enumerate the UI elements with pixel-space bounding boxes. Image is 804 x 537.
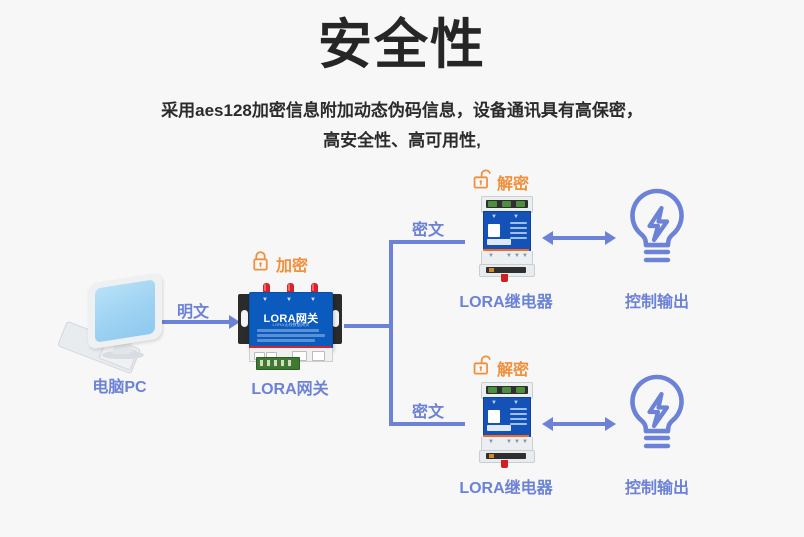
link-label-ciphertext-upper: 密文 <box>398 216 458 240</box>
diagram-canvas: 安全性 采用aes128加密信息附加动态伪码信息，设备通讯具有高保密， 高安全性… <box>0 0 804 537</box>
link-branch-lower <box>389 422 465 426</box>
link-label-ciphertext-lower: 密文 <box>398 398 458 422</box>
relay-mark-3: ▼ <box>522 253 528 259</box>
relay-front-panel: ▼ ▼ <box>483 211 531 253</box>
relay-panel-badge <box>487 425 511 431</box>
badge-label-decrypt-bottom: 解密 <box>497 356 529 380</box>
subtitle-line-1: 采用aes128加密信息附加动态伪码信息，设备通讯具有高保密， <box>102 96 702 126</box>
gateway-front-panel: ▼ ▼ ▼ LORA网关 LORA无线数据网关 <box>249 292 333 350</box>
relay-mark-wifi: ▼ <box>488 253 494 259</box>
relay-front-panel: ▼ ▼ <box>483 397 531 439</box>
link-relay-bottom-arrow-right <box>605 417 616 431</box>
relay-mark-3: ▼ <box>522 439 528 445</box>
node-label-output-top: 控制输出 <box>597 288 717 312</box>
node-label-pc: 电脑PC <box>62 373 177 397</box>
relay-lower-housing: ▼ ▼ ▼ ▼ <box>481 437 533 451</box>
relay-top-terminal <box>486 200 528 208</box>
link-branch-upper <box>389 240 465 244</box>
badge-label-encrypt: 加密 <box>276 252 308 276</box>
antenna-mark-1: ▼ <box>262 297 268 303</box>
link-relay-top-arrow-left <box>542 231 553 245</box>
page-title: 安全性 <box>0 16 804 75</box>
gateway-panel-subtitle: LORA无线数据网关 <box>250 322 332 328</box>
lora-gateway-device: ▼ ▼ ▼ LORA网关 LORA无线数据网关 <box>238 283 342 361</box>
node-label-output-bottom: 控制输出 <box>597 474 717 498</box>
open-padlock-icon-top <box>472 168 493 190</box>
monitor-bezel <box>88 272 162 350</box>
relay-red-tab <box>501 460 508 468</box>
link-branch-bus <box>389 240 393 426</box>
relay-antenna-mark-1: ▼ <box>491 214 497 220</box>
link-relay-bottom-arrow-left <box>542 417 553 431</box>
gateway-spec-lines <box>257 329 327 344</box>
subtitle-line-2: 高安全性、高可用性, <box>102 126 702 156</box>
desktop-computer-icon <box>62 278 177 373</box>
relay-led-strip <box>510 408 527 428</box>
relay-mark-2: ▼ <box>514 439 520 445</box>
relay-panel-window <box>488 224 500 237</box>
link-gateway-trunk <box>344 324 393 328</box>
link-relay-bottom-output-line <box>553 422 605 426</box>
badge-label-decrypt-top: 解密 <box>497 170 529 194</box>
closed-padlock-icon <box>250 250 271 272</box>
lora-relay-device-top: ▼ ▼ ▼ ▼ ▼ ▼ <box>477 196 535 278</box>
relay-mark-1: ▼ <box>506 253 512 259</box>
relay-red-tab <box>501 274 508 282</box>
relay-antenna-mark-2: ▼ <box>513 214 519 220</box>
relay-lower-housing: ▼ ▼ ▼ ▼ <box>481 251 533 265</box>
relay-mark-wifi: ▼ <box>488 439 494 445</box>
relay-mark-1: ▼ <box>506 439 512 445</box>
link-relay-top-arrow-right <box>605 231 616 245</box>
antenna-mark-2: ▼ <box>286 297 292 303</box>
open-padlock-icon-bottom <box>472 354 493 376</box>
usb-port <box>312 351 325 361</box>
antenna-mark-3: ▼ <box>310 297 316 303</box>
lightbulb-bolt-icon-top <box>620 186 694 270</box>
link-relay-top-output-line <box>553 236 605 240</box>
relay-panel-badge <box>487 239 511 245</box>
node-label-relay-bottom: LORA继电器 <box>446 474 566 498</box>
screw-terminal-block <box>256 357 300 370</box>
relay-led-strip <box>510 222 527 242</box>
page-subtitle: 采用aes128加密信息附加动态伪码信息，设备通讯具有高保密， 高安全性、高可用… <box>102 96 702 156</box>
relay-antenna-mark-1: ▼ <box>491 400 497 406</box>
node-label-relay-top: LORA继电器 <box>446 288 566 312</box>
relay-mark-2: ▼ <box>514 253 520 259</box>
relay-top-terminal <box>486 386 528 394</box>
relay-antenna-mark-2: ▼ <box>513 400 519 406</box>
node-label-gateway: LORA网关 <box>230 375 350 399</box>
lightbulb-bolt-icon-bottom <box>620 372 694 456</box>
relay-panel-window <box>488 410 500 423</box>
lora-relay-device-bottom: ▼ ▼ ▼ ▼ ▼ ▼ <box>477 382 535 464</box>
monitor-screen <box>95 279 155 343</box>
